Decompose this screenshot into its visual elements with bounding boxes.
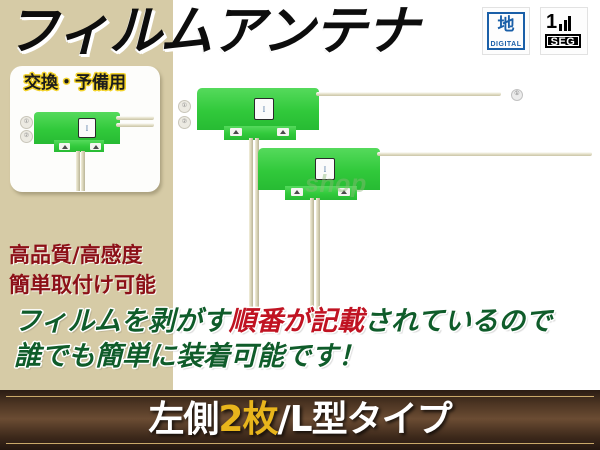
message-line-1-post: されているので bbox=[364, 306, 552, 337]
banner-text-gold: 2枚 bbox=[218, 399, 277, 440]
inset-tab-left bbox=[59, 143, 70, 150]
one-seg-number: 1 bbox=[546, 13, 557, 31]
antenna1-tab-right bbox=[277, 128, 289, 136]
inset-product-card: 交換・予備用 ① ② I bbox=[10, 66, 160, 192]
antenna1-tab-left bbox=[230, 128, 242, 136]
replacement-badge: 交換・予備用 bbox=[24, 72, 126, 94]
message-line-2: 誰でも簡単に装着可能です！ bbox=[14, 340, 365, 373]
antenna2-lead-a bbox=[310, 198, 314, 318]
antenna2-cable bbox=[377, 152, 592, 156]
antenna-graphic-2: I bbox=[252, 140, 597, 318]
antenna2-lead-b bbox=[316, 198, 320, 318]
antenna1-marker-1: ① bbox=[178, 100, 191, 113]
bottom-banner: 左側2枚/L型タイプ bbox=[0, 390, 600, 450]
inset-marker-1: ① bbox=[20, 116, 33, 129]
digital-logo-glyph: 地 bbox=[489, 14, 523, 36]
inset-antenna-graphic: ① ② I bbox=[20, 110, 152, 188]
antenna1-chip: I bbox=[254, 98, 274, 120]
antenna2-tab-left bbox=[291, 188, 303, 196]
feature-line-2: 簡単取付け可能 bbox=[9, 273, 156, 297]
message-line-1-highlight: 順番が記載 bbox=[229, 306, 364, 337]
one-seg-logo: 1 SEG bbox=[540, 7, 588, 55]
antenna1-marker-2: ② bbox=[178, 116, 191, 129]
inset-tab-right bbox=[90, 143, 101, 150]
message-line-1: フィルムを剥がす順番が記載されているので bbox=[14, 305, 552, 338]
digital-logo: 地 DIGITAL bbox=[482, 7, 530, 55]
banner-text: 左側2枚/L型タイプ bbox=[0, 399, 600, 441]
one-seg-top: 1 bbox=[546, 13, 571, 31]
one-seg-word: SEG bbox=[545, 34, 581, 48]
shop-watermark: shop bbox=[305, 170, 367, 199]
inset-cable-upper bbox=[116, 116, 154, 120]
inset-lead-b bbox=[81, 151, 85, 191]
banner-text-pre: 左側 bbox=[148, 399, 218, 440]
feature-line-1: 高品質/高感度 bbox=[9, 243, 143, 267]
page-title: フィルムアンテナ bbox=[6, 2, 418, 60]
inset-lead-a bbox=[76, 151, 80, 191]
certification-logos: 地 DIGITAL 1 SEG bbox=[482, 7, 588, 55]
inset-cable-lower bbox=[116, 123, 154, 127]
product-banner-image: フィルムアンテナ 地 DIGITAL 1 SEG 交換・予備用 ① bbox=[0, 0, 600, 450]
digital-logo-word: DIGITAL bbox=[486, 41, 526, 48]
banner-text-post: /L型タイプ bbox=[277, 399, 451, 440]
inset-antenna-chip: I bbox=[78, 118, 96, 138]
message-line-1-pre: フィルムを剥がす bbox=[14, 306, 229, 337]
antenna1-cable bbox=[316, 92, 501, 96]
inset-marker-2: ② bbox=[20, 130, 33, 143]
signal-bars-icon bbox=[559, 15, 571, 31]
antenna1-cable-end-marker: ① bbox=[511, 89, 523, 101]
